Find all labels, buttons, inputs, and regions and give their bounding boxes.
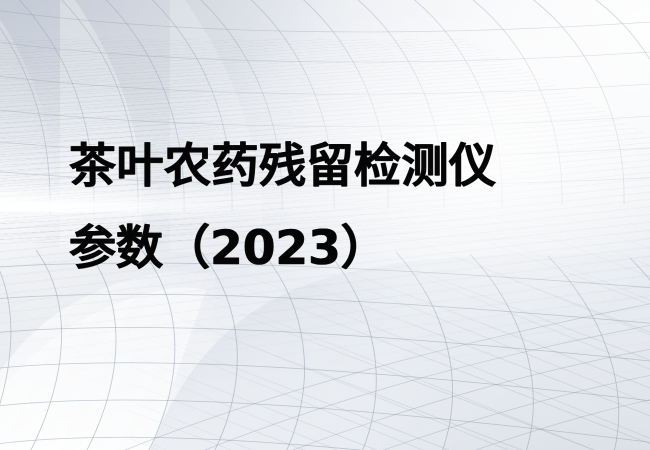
title-line-primary: 茶叶农药残留检测仪: [69, 126, 589, 208]
title-line-secondary: 参数（2023）: [69, 208, 589, 290]
title-banner: 茶叶农药残留检测仪 参数（2023）: [0, 0, 650, 450]
page-title: 茶叶农药残留检测仪 参数（2023）: [69, 126, 589, 290]
